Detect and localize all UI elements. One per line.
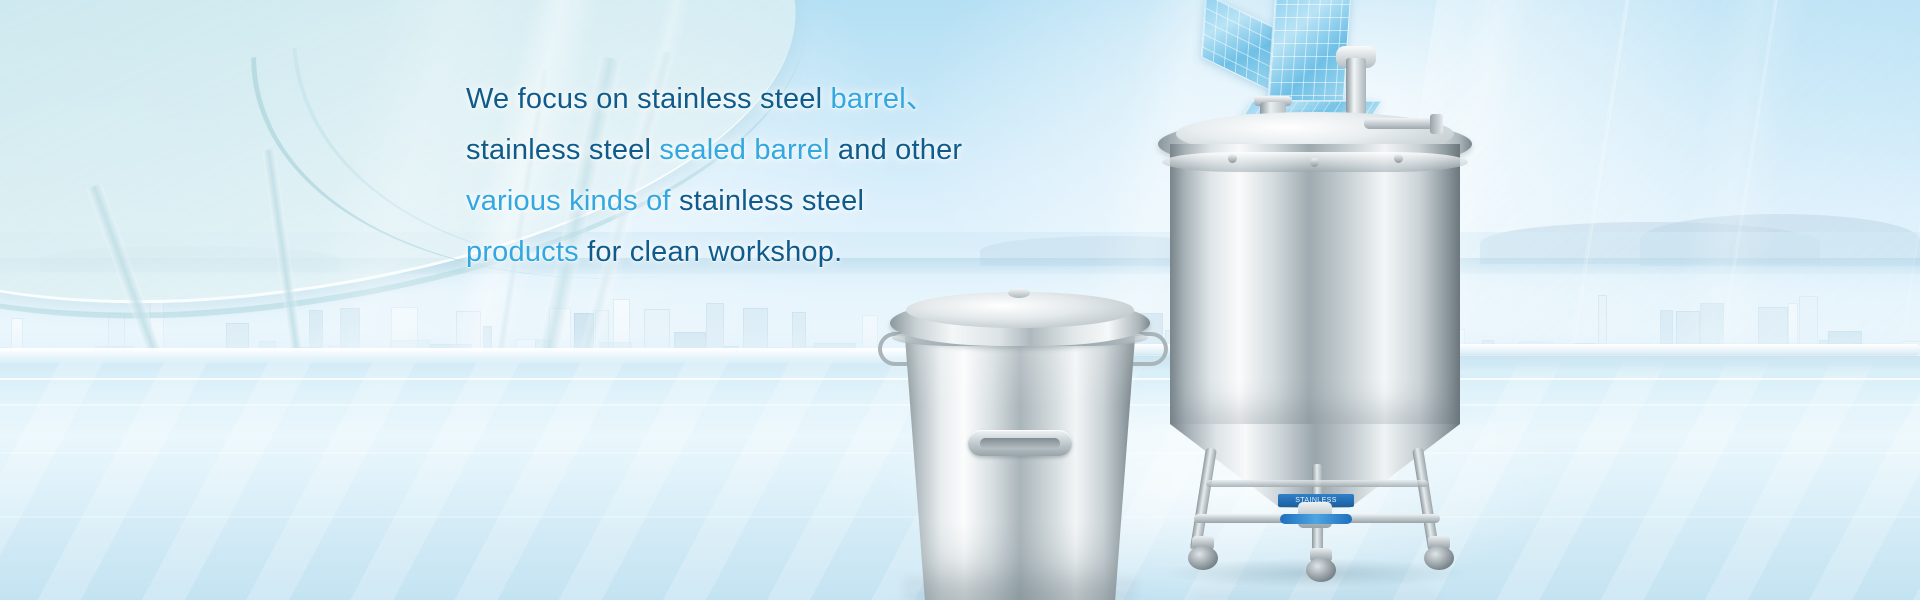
headline-segment-accent: sealed barrel (659, 134, 829, 166)
tank-clamp-bolt (1394, 154, 1403, 163)
headline-segment-accent: barrel、 (831, 83, 936, 115)
product-stainless-steel-tank: STAINLESS (1150, 66, 1480, 600)
headline-segment-accent: products (466, 236, 579, 268)
tank-crossbar (1206, 480, 1428, 487)
tank-pipe-arm-end (1430, 114, 1443, 134)
tank-pipe-arm (1364, 118, 1438, 129)
tank-caster-wheel (1188, 536, 1218, 570)
tank-clamp-bolt (1310, 158, 1319, 167)
headline-segment-dark: for clean workshop. (579, 236, 843, 268)
headline-line-2: stainless steel sealed barrel and other (466, 125, 1126, 176)
headline-segment-dark: We focus on stainless steel (466, 83, 831, 115)
headline-segment-dark: and other (830, 134, 963, 166)
headline-line-3: various kinds of stainless steel (466, 176, 1126, 227)
bucket-lid-knob (1008, 288, 1030, 298)
caster-wheel (1188, 546, 1218, 570)
headline-text: We focus on stainless steel barrel、stain… (466, 74, 1126, 278)
headline-segment-dark: stainless steel (679, 185, 864, 217)
tank-valve-handle (1280, 514, 1352, 524)
product-stainless-steel-bucket (880, 278, 1160, 600)
tank-caster-wheel (1424, 536, 1454, 570)
caster-wheel (1424, 546, 1454, 570)
headline-line-1: We focus on stainless steel barrel、 (466, 74, 1126, 125)
tank-body (1170, 144, 1460, 424)
bucket-front-grip-inner (980, 438, 1060, 449)
headline-line-4: products for clean workshop. (466, 227, 1126, 278)
headline-segment-accent: various kinds of (466, 185, 679, 217)
tank-clamp-bolt (1228, 154, 1237, 163)
bucket-body-sheen (904, 324, 1136, 600)
hero-banner: We focus on stainless steel barrel、stain… (0, 0, 1920, 600)
headline-segment-dark: stainless steel (466, 134, 659, 166)
